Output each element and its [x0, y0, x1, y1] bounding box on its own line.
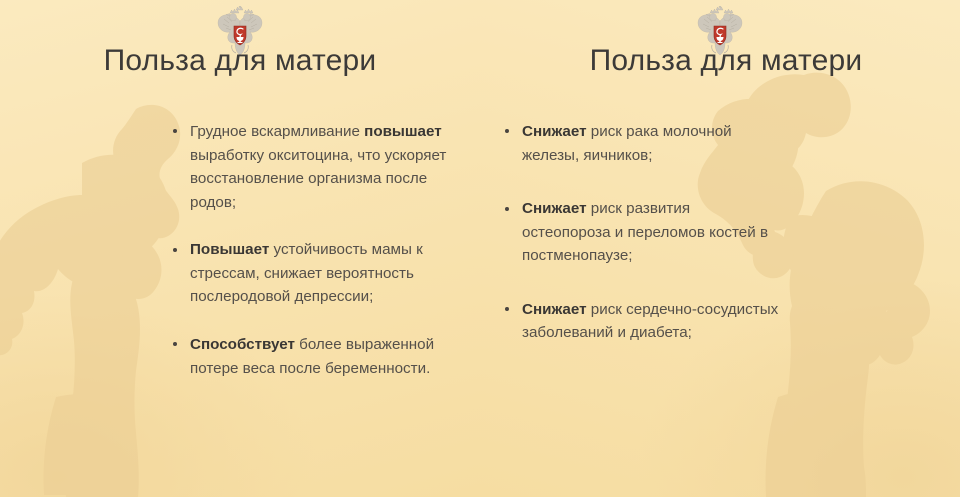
bullet-bold-text: Способствует: [190, 336, 295, 353]
bullet-dot-icon: [173, 342, 177, 346]
bullet-dot-icon: [505, 307, 509, 311]
page-title: Польза для матери: [480, 44, 960, 78]
bullet-dot-icon: [173, 129, 177, 133]
page-title: Польза для матери: [0, 44, 480, 78]
bullet-bold-text: Снижает: [522, 200, 587, 217]
bullet-bold-text: повышает: [364, 123, 442, 140]
list-item: Снижает риск сердечно-сосудистых заболев…: [502, 298, 782, 345]
list-item: Снижает риск рака молочной железы, яични…: [502, 120, 782, 167]
bullet-bold-text: Повышает: [190, 241, 269, 258]
bullet-lead-text: Грудное вскармливание: [190, 123, 364, 140]
benefits-list-left: Грудное вскармливание повышает выработку…: [170, 120, 462, 380]
bullet-body-text: выработку окситоцина, что ускоряет восст…: [190, 147, 446, 211]
list-item: Повышает устойчивость мамы к стрессам, с…: [170, 238, 462, 309]
bullet-bold-text: Снижает: [522, 123, 587, 140]
bullet-dot-icon: [505, 207, 509, 211]
bullet-dot-icon: [505, 129, 509, 133]
list-item: Снижает риск развития остеопороза и пере…: [502, 197, 782, 268]
list-item: Грудное вскармливание повышает выработку…: [170, 120, 462, 214]
bullet-bold-text: Снижает: [522, 301, 587, 318]
list-item: Способствует более выраженной потере вес…: [170, 333, 462, 380]
panel-right: Польза для матери Снижает риск рака моло…: [480, 0, 960, 497]
benefits-list-right: Снижает риск рака молочной железы, яични…: [502, 120, 782, 375]
slide-root: Польза для матери Грудное вскармливание …: [0, 0, 960, 497]
panel-left: Польза для матери Грудное вскармливание …: [0, 0, 480, 497]
bullet-dot-icon: [173, 248, 177, 252]
